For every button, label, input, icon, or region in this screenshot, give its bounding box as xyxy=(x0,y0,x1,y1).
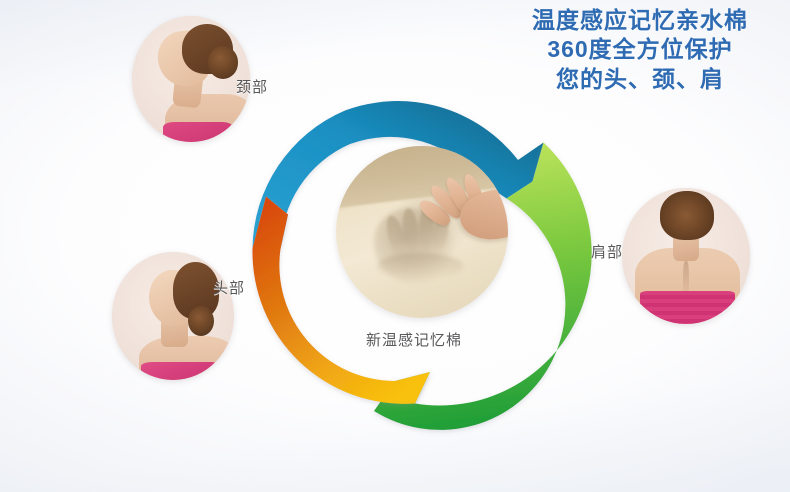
model-pink-top xyxy=(640,291,735,324)
foam-surface xyxy=(336,146,508,318)
model-hair-bun xyxy=(208,46,239,79)
label-neck: 颈部 xyxy=(236,76,268,97)
product-infographic: 温度感应记忆亲水棉 360度全方位保护 您的头、颈、肩 xyxy=(0,0,790,492)
model-hair-updo xyxy=(660,191,714,240)
photo-head xyxy=(112,252,234,380)
label-head: 头部 xyxy=(213,277,245,298)
hand xyxy=(425,167,508,246)
model-pink-top xyxy=(163,122,234,142)
photo-shoulder xyxy=(622,188,750,324)
headline-line-1: 温度感应记忆亲水棉 xyxy=(492,6,788,35)
memory-foam-photo xyxy=(336,146,508,318)
photo-neck xyxy=(132,16,250,142)
caption-memory-foam: 新温感记忆棉 xyxy=(366,329,462,350)
model-pink-top xyxy=(141,362,222,380)
impression-palm-ridge xyxy=(377,253,463,281)
label-shoulder: 肩部 xyxy=(591,241,623,262)
